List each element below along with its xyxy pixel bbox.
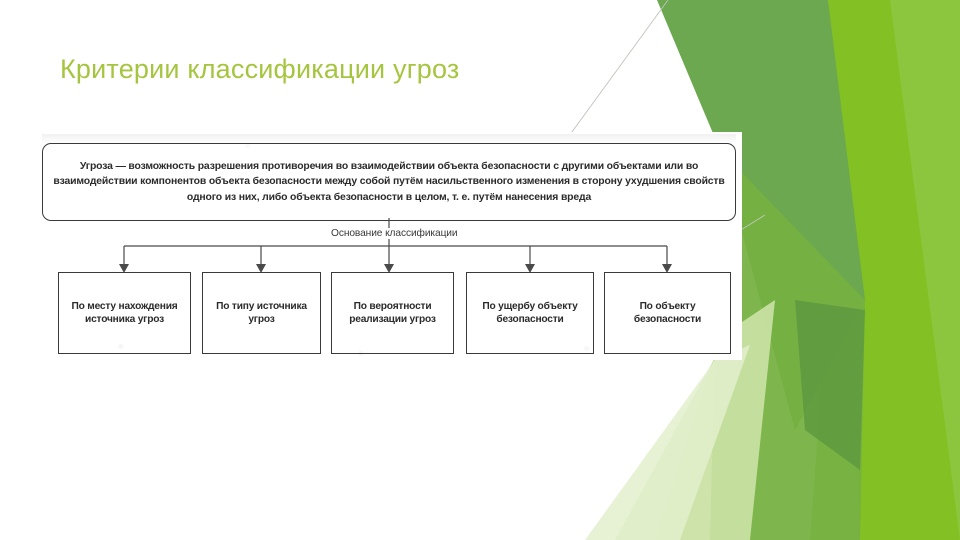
category-box-object: По объекту безопасности xyxy=(604,272,731,354)
threat-definition-text: Угроза — возможность разрешения противор… xyxy=(43,159,735,206)
category-label: По объекту безопасности xyxy=(605,300,730,327)
category-label: По типу источника угроз xyxy=(203,300,320,327)
category-box-probability: По вероятности реализации угроз xyxy=(331,272,454,354)
threat-classification-diagram: Угроза — возможность разрешения противор… xyxy=(36,132,742,360)
category-box-row: По месту нахождения источника угроз По т… xyxy=(42,272,736,354)
threat-definition-box: Угроза — возможность разрешения противор… xyxy=(42,143,736,221)
category-box-location: По месту нахождения источника угроз xyxy=(58,272,191,354)
category-label: По вероятности реализации угроз xyxy=(332,300,453,327)
classification-basis-label: Основание классификации xyxy=(328,228,460,239)
category-box-damage: По ущербу объекту безопасности xyxy=(466,272,594,354)
decor-shape-accent-dark xyxy=(795,300,865,470)
decor-shape-bright-right xyxy=(810,0,960,540)
decor-shape-bright-band xyxy=(828,0,960,540)
category-box-source-type: По типу источника угроз xyxy=(202,272,321,354)
category-label: По месту нахождения источника угроз xyxy=(59,300,190,327)
page-title: Критерии классификации угроз xyxy=(60,52,459,86)
slide-canvas: Критерии классификации угроз Угроза — во… xyxy=(0,0,960,540)
category-label: По ущербу объекту безопасности xyxy=(467,300,593,327)
decor-shape-pale-bottom xyxy=(585,345,750,540)
